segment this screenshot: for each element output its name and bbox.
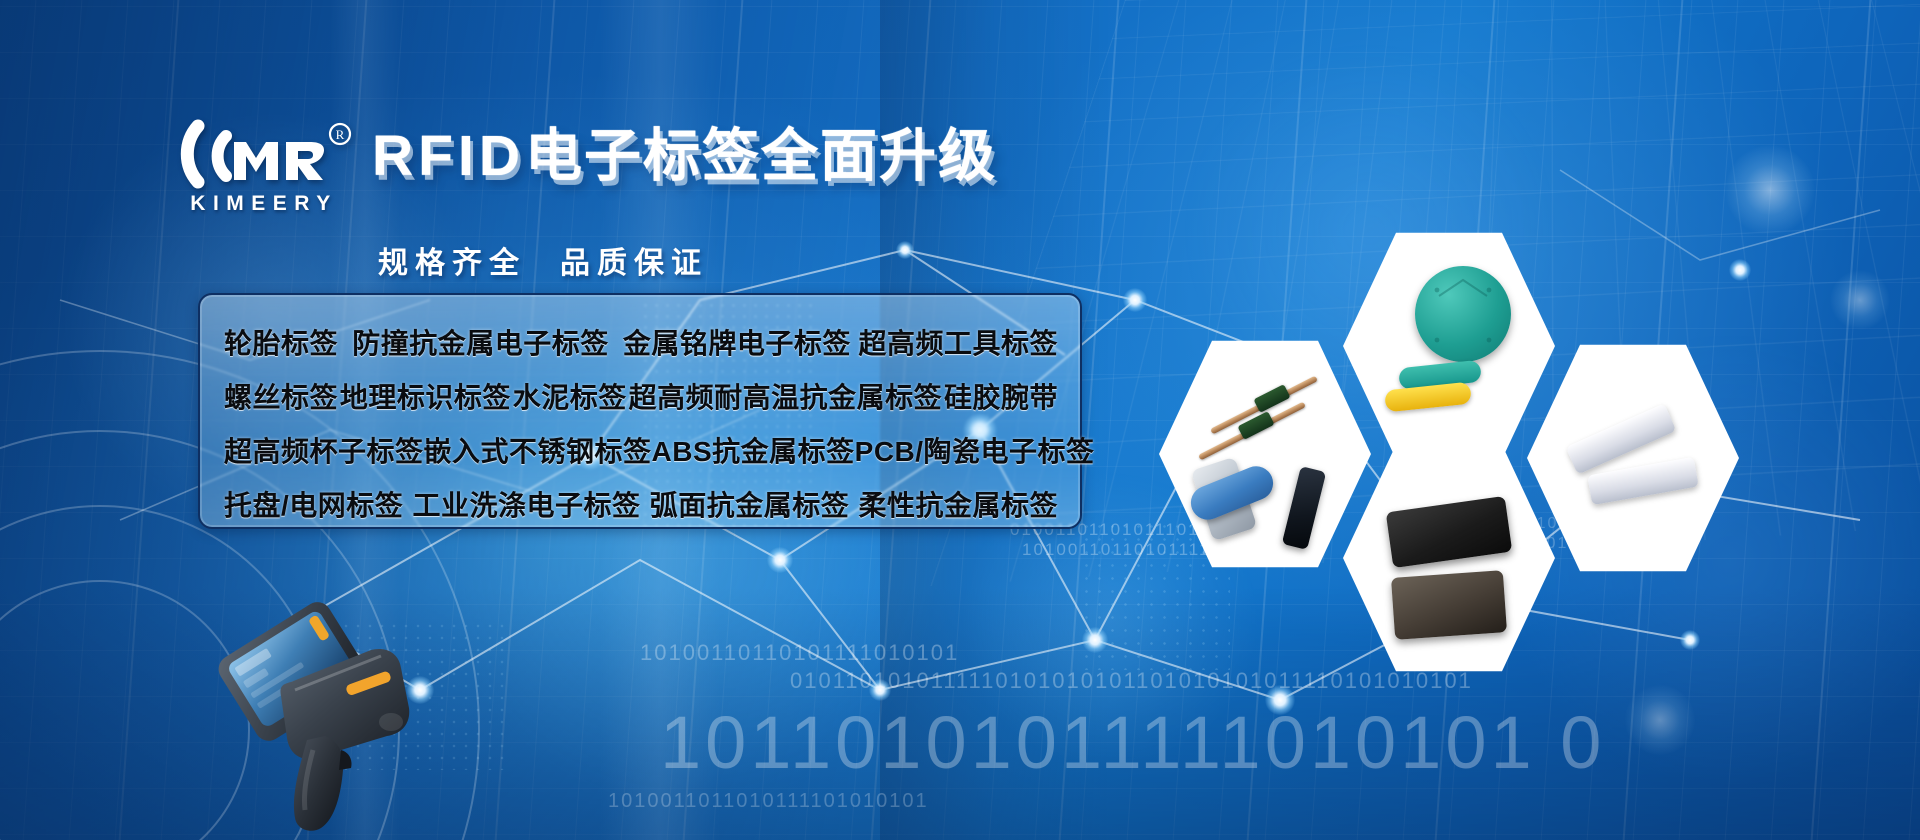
subtitle-left: 规格齐全 — [378, 247, 526, 280]
brand-name: KIMEERY — [168, 192, 353, 216]
product-row: 螺丝标签 地理标识标签 水泥标签 超高频耐高温抗金属标签 硅胶腕带 — [224, 369, 1058, 423]
subtitle-right: 品质保证 — [560, 247, 708, 280]
product-list-panel: 轮胎标签 防撞抗金属电子标签 金属铭牌电子标签 超高频工具标签 螺丝标签 地理标… — [198, 293, 1082, 529]
black-block-tag — [1386, 496, 1513, 568]
hex-teal-disc-tags[interactable] — [1343, 228, 1555, 464]
product-item[interactable]: 轮胎标签 — [224, 322, 338, 362]
product-item[interactable]: 嵌入式不锈钢标签 — [424, 430, 652, 470]
teal-disc-tag — [1415, 266, 1511, 362]
product-item[interactable]: 弧面抗金属标签 — [650, 484, 850, 524]
svg-text:R: R — [336, 127, 345, 142]
hex-rod-and-blue-tags[interactable] — [1159, 336, 1371, 572]
binary-text: 10100110110101111010101 — [640, 640, 959, 666]
hex-white-strap-tags[interactable] — [1527, 340, 1739, 576]
product-row: 托盘/电网标签 工业洗涤电子标签 弧面抗金属标签 柔性抗金属标签 — [224, 477, 1058, 531]
network-node — [767, 547, 793, 573]
binary-text: 0101101010111110101010101101010101011110… — [790, 668, 1473, 694]
product-item[interactable]: 超高频耐高温抗金属标签 — [629, 376, 943, 416]
product-item[interactable]: 硅胶腕带 — [944, 376, 1058, 416]
handheld-rfid-reader — [195, 590, 445, 840]
product-item[interactable]: 托盘/电网标签 — [224, 484, 403, 524]
headline-cjk: 电子标签全面升级 — [525, 124, 997, 188]
page-title: RFID电子标签全面升级 — [372, 128, 997, 185]
network-node — [896, 241, 914, 259]
product-item[interactable]: 地理标识标签 — [340, 376, 511, 416]
rod-tag-body — [1253, 384, 1290, 413]
binary-text: 1010011011010111101010101 — [608, 790, 929, 813]
dark-stick-tag — [1282, 466, 1327, 550]
hex-dark-anti-metal-tags[interactable] — [1343, 440, 1555, 676]
network-node — [1123, 288, 1147, 312]
banner-stage: 0100110110101110101101 10100110110101111… — [0, 0, 1920, 840]
binary-text-large: 10110101011111010101 0 — [660, 700, 1605, 785]
product-item[interactable]: 超高频工具标签 — [858, 322, 1058, 362]
white-strap-tag — [1587, 457, 1699, 505]
product-showcase — [1155, 190, 1855, 650]
product-item[interactable]: ABS抗金属标签 — [652, 430, 855, 470]
product-item[interactable]: 超高频杯子标签 — [224, 430, 424, 470]
product-item[interactable]: 工业洗涤电子标签 — [413, 484, 641, 524]
product-item[interactable]: 水泥标签 — [513, 376, 627, 416]
product-item[interactable]: 金属铭牌电子标签 — [623, 322, 851, 362]
product-row: 轮胎标签 防撞抗金属电子标签 金属铭牌电子标签 超高频工具标签 — [224, 315, 1058, 369]
product-row: 超高频杯子标签 嵌入式不锈钢标签 ABS抗金属标签 PCB/陶瓷电子标签 — [224, 423, 1058, 477]
yellow-bar-tag — [1384, 382, 1472, 413]
lens-flare — [1625, 685, 1695, 755]
product-item[interactable]: 螺丝标签 — [224, 376, 338, 416]
brown-block-tag — [1391, 570, 1507, 640]
product-item[interactable]: PCB/陶瓷电子标签 — [855, 430, 1095, 470]
product-item[interactable]: 柔性抗金属标签 — [858, 484, 1058, 524]
brand-logo[interactable]: R KIMEERY — [168, 118, 353, 228]
page-subtitle: 规格齐全品质保证 — [378, 238, 708, 282]
kimeery-wave-logo-icon: R — [168, 118, 353, 190]
product-item[interactable]: 防撞抗金属电子标签 — [352, 322, 609, 362]
headline-latin: RFID — [372, 124, 525, 188]
